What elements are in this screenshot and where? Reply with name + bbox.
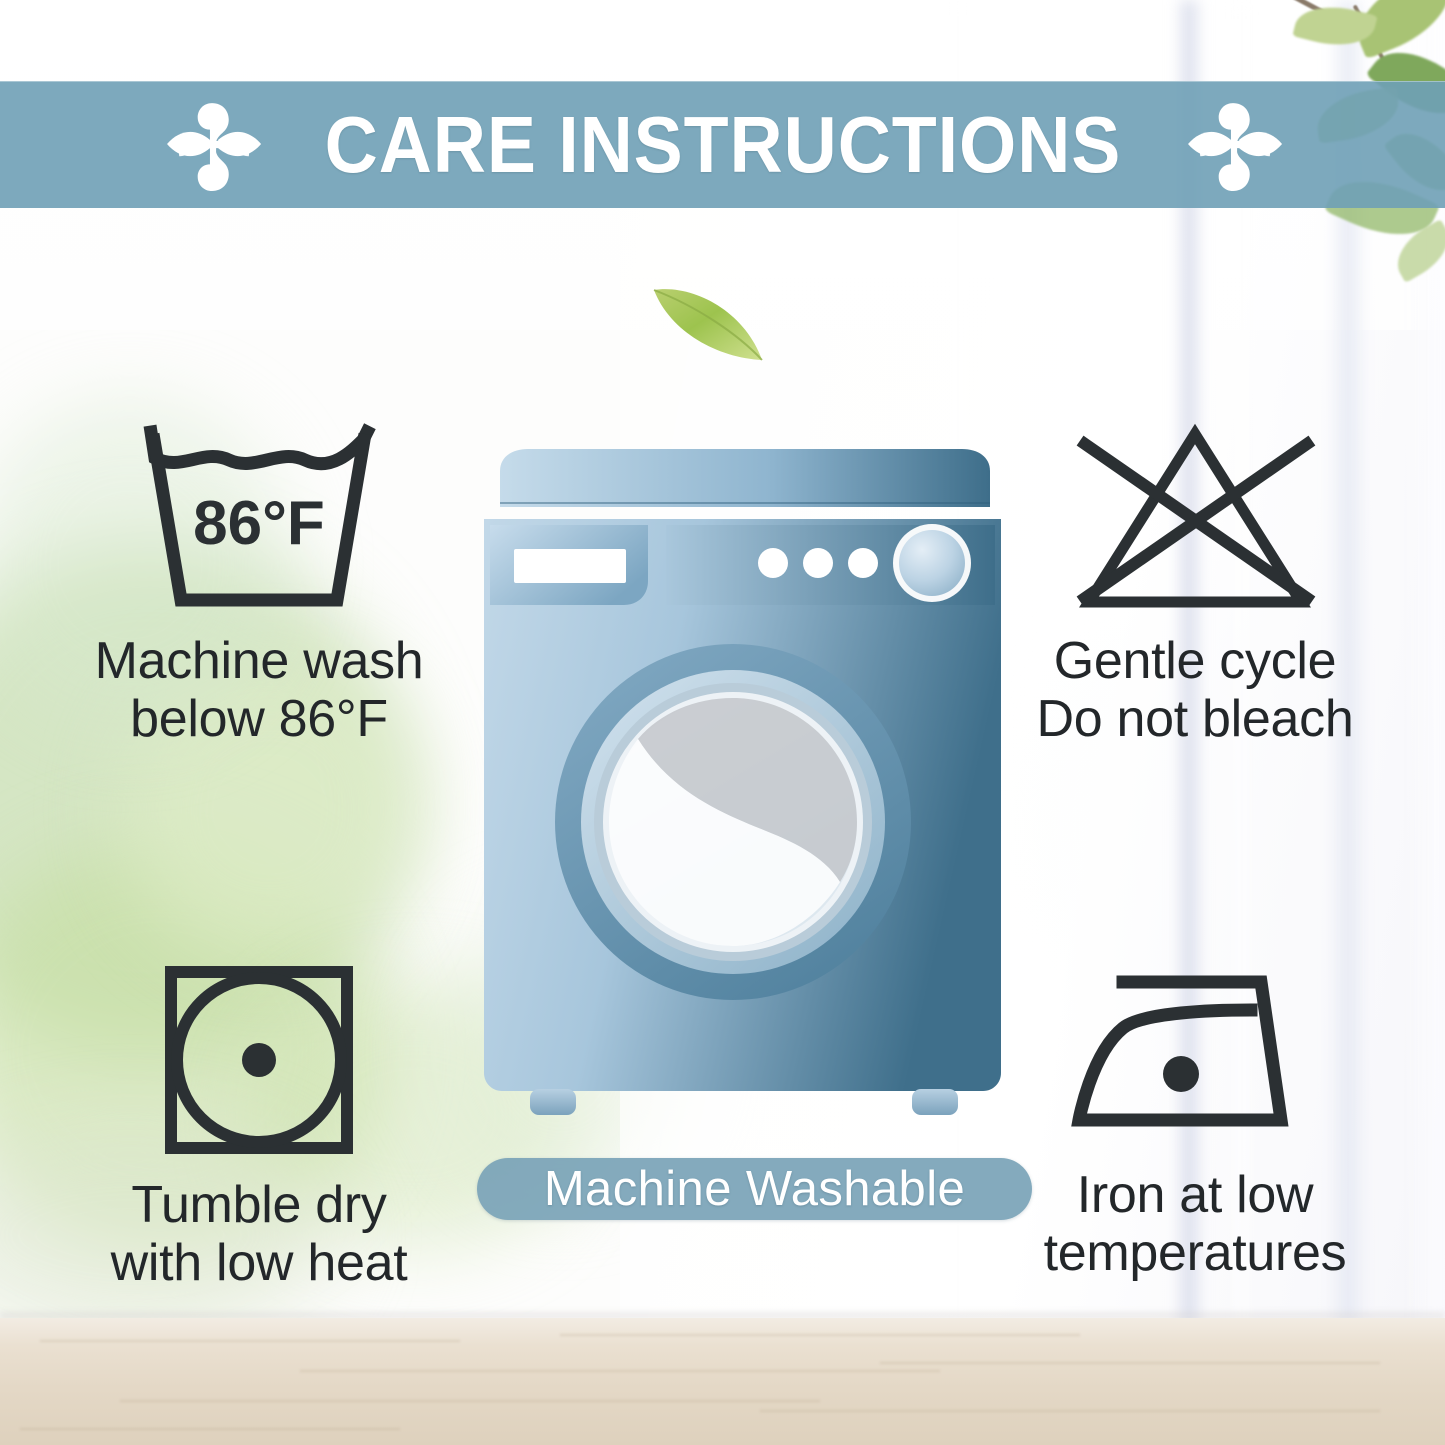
control-panel xyxy=(666,524,995,605)
washer-door[interactable] xyxy=(555,644,911,1000)
iron-icon xyxy=(1065,962,1325,1152)
lid-strip xyxy=(500,449,990,507)
care-symbol-caption: Iron at low temperatures xyxy=(1044,1166,1347,1282)
care-symbol-tumble-dry: Tumble dry with low heat xyxy=(24,962,494,1292)
control-knob[interactable] xyxy=(893,524,971,602)
fleur-de-lis-icon xyxy=(160,99,264,191)
wooden-table-surface xyxy=(0,1318,1445,1445)
page-title: CARE INSTRUCTIONS xyxy=(324,105,1121,185)
tumble-dry-square-icon xyxy=(149,962,369,1162)
machine-washable-badge: Machine Washable xyxy=(477,1158,1032,1220)
care-symbol-do-not-bleach: Gentle cycle Do not bleach xyxy=(960,418,1430,748)
indicator-lights xyxy=(758,548,878,578)
floating-leaf-icon xyxy=(640,262,780,372)
care-symbol-caption: Tumble dry with low heat xyxy=(111,1176,408,1292)
badge-label: Machine Washable xyxy=(544,1165,965,1214)
machine-feet xyxy=(530,1089,958,1115)
washing-machine-illustration xyxy=(470,445,1015,1125)
care-symbol-caption: Gentle cycle Do not bleach xyxy=(1037,632,1354,748)
header-banner: CARE INSTRUCTIONS xyxy=(0,81,1445,208)
care-symbol-caption: Machine wash below 86°F xyxy=(95,632,424,748)
wash-tub-icon: 86°F xyxy=(129,418,389,618)
care-symbol-iron: Iron at low temperatures xyxy=(960,962,1430,1282)
wash-temperature-label: 86°F xyxy=(193,489,325,558)
crossed-triangle-icon xyxy=(1065,418,1325,618)
care-symbol-machine-wash: 86°F Machine wash below 86°F xyxy=(24,418,494,748)
detergent-drawer xyxy=(490,525,648,605)
fleur-de-lis-icon xyxy=(1181,99,1285,191)
